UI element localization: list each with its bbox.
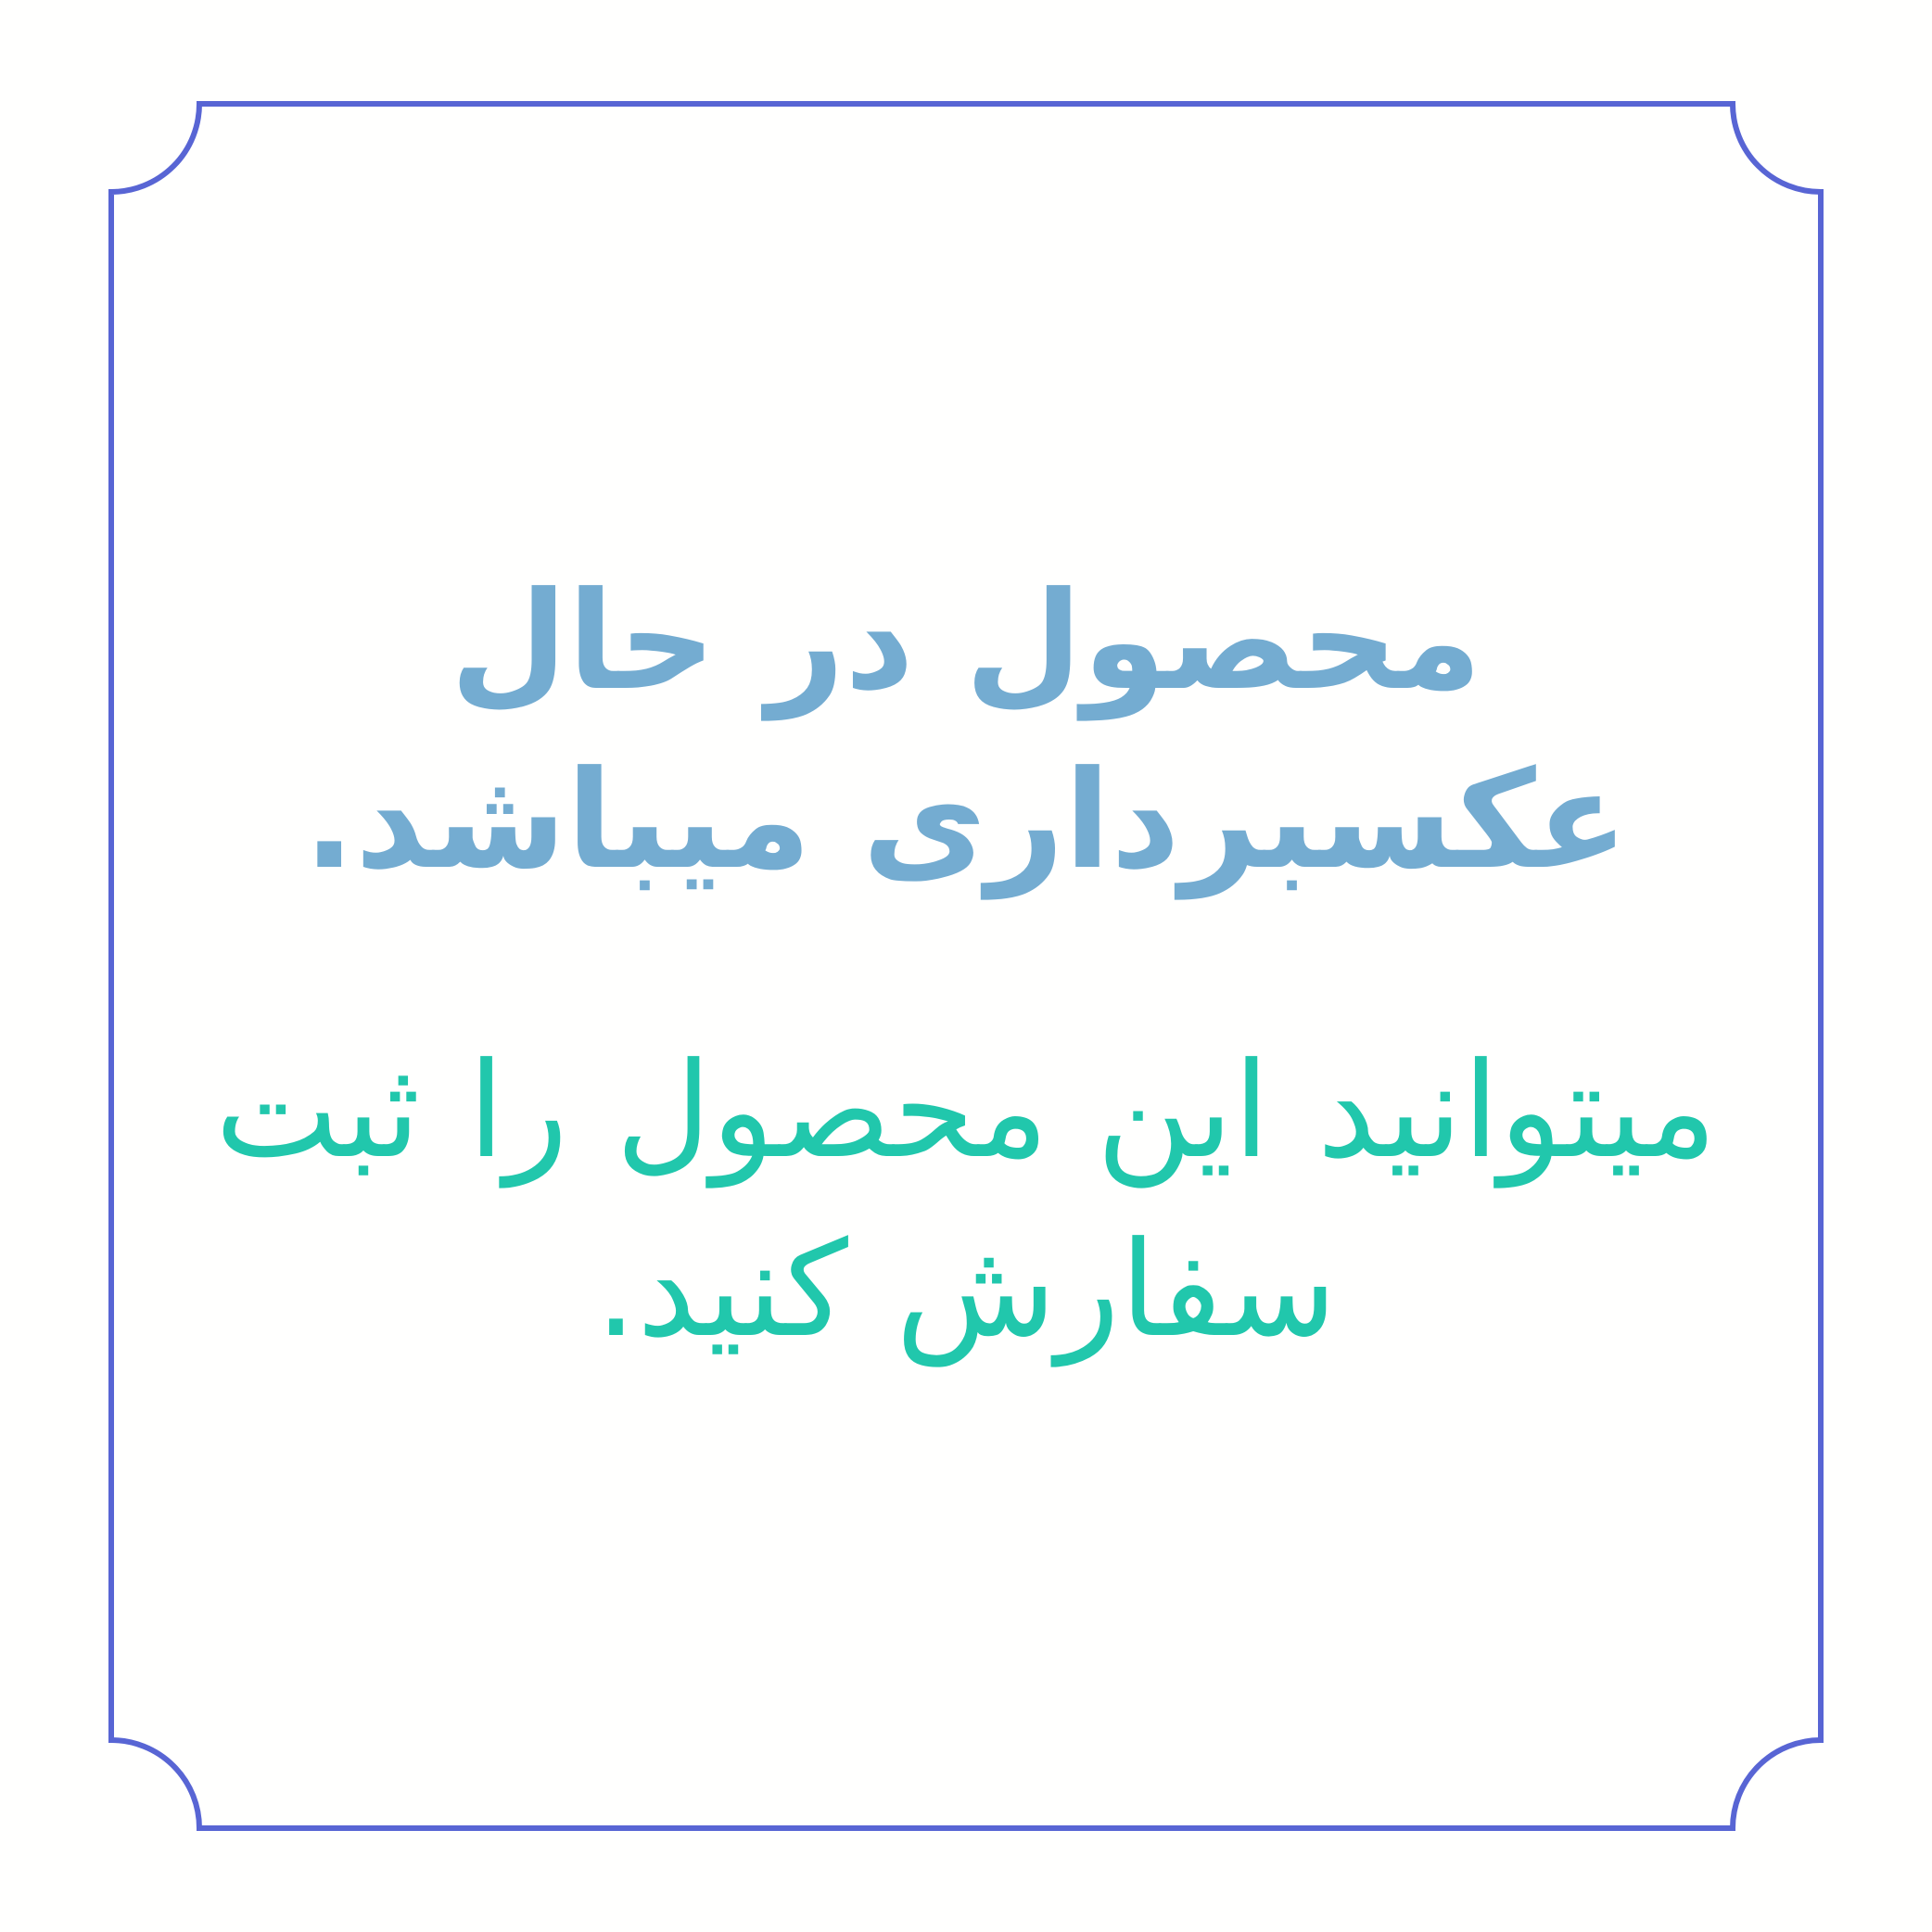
primary-message-block: محصول در حال عکسبرداری میباشد. xyxy=(139,553,1793,909)
secondary-order-message: میتوانید این محصول را ثبت سفارش کنید. xyxy=(139,1022,1793,1379)
primary-status-message: محصول در حال عکسبرداری میباشد. xyxy=(139,553,1793,909)
secondary-message-block: میتوانید این محصول را ثبت سفارش کنید. xyxy=(139,1022,1793,1379)
placeholder-card: محصول در حال عکسبرداری میباشد. میتوانید … xyxy=(0,0,1932,1932)
message-spacer xyxy=(139,910,1793,1022)
message-stack: محصول در حال عکسبرداری میباشد. میتوانید … xyxy=(0,0,1932,1932)
